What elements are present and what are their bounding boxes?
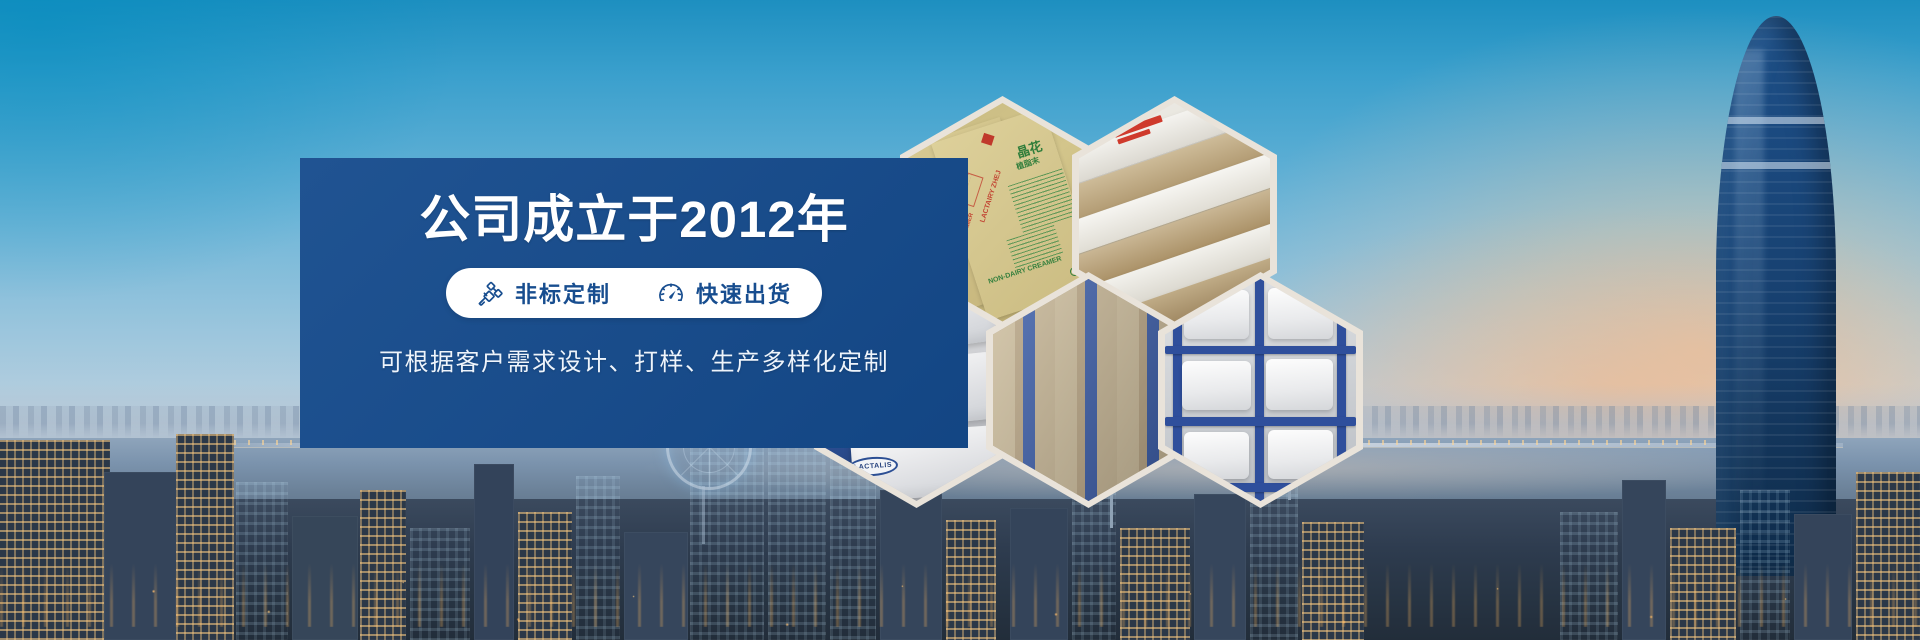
feature-fast-shipping-label: 快速出货 xyxy=(696,277,792,309)
promo-panel: 公司成立于2012年 非标定制 xyxy=(300,158,968,448)
hero-banner: 晶花 植脂末 NON-DAIRY CREAMER LACTAIRY ZHEJ N… xyxy=(0,0,1920,640)
page-title: 公司成立于2012年 xyxy=(419,192,848,248)
hex-pallet-stack-image xyxy=(993,279,1184,501)
feature-pill: 非标定制 快速出货 xyxy=(446,268,822,318)
page-subtitle: 可根据客户需求设计、打样、生产多样化定制 xyxy=(379,342,889,377)
tower-band-2 xyxy=(1716,162,1836,169)
hex-warehouse-racking-image xyxy=(1165,279,1356,501)
feature-fast-shipping[interactable]: 快速出货 xyxy=(657,277,792,309)
speedometer-icon xyxy=(657,279,685,307)
feature-custom[interactable]: 非标定制 xyxy=(476,277,611,309)
pen-nib-icon xyxy=(476,279,504,307)
hex-gallery: 晶花 植脂末 NON-DAIRY CREAMER LACTAIRY ZHEJ N… xyxy=(990,86,1550,426)
road-light-trail xyxy=(0,563,1920,627)
feature-custom-label: 非标定制 xyxy=(515,277,611,309)
tower-band-1 xyxy=(1716,117,1836,124)
